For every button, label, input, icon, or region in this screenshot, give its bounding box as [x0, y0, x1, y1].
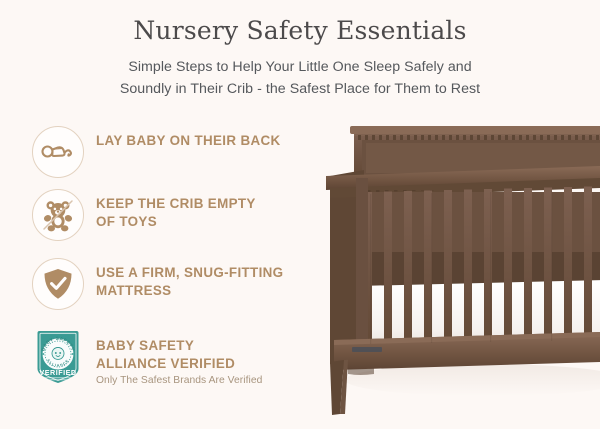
page-subtitle-line-2: Soundly in Their Crib - the Safest Place… — [0, 78, 600, 100]
baby-on-back-icon — [32, 126, 84, 178]
no-teddy-bear-icon — [32, 189, 84, 241]
crib-photo — [300, 118, 600, 429]
tip-sublabel: Only The Safest Brands Are Verified — [96, 372, 262, 388]
tip-row: BABY SAFETY ALLIANCE VERIFIED — [32, 331, 262, 389]
nursery-safety-infographic: Nursery Safety Essentials Simple Steps t… — [0, 0, 600, 429]
header: Nursery Safety Essentials Simple Steps t… — [0, 0, 600, 100]
tip-row: LAY BABY ON THEIR BACK — [32, 126, 281, 178]
tip-row: KEEP THE CRIB EMPTY OF TOYS — [32, 189, 256, 241]
tip-row: USE A FIRM, SNUG-FITTING MATTRESS — [32, 258, 283, 310]
tip-label: USE A FIRM, SNUG-FITTING MATTRESS — [96, 264, 283, 299]
tip-text: KEEP THE CRIB EMPTY OF TOYS — [84, 189, 256, 230]
page-subtitle-line-1: Simple Steps to Help Your Little One Sle… — [0, 56, 600, 78]
shield-check-icon — [32, 258, 84, 310]
badge-ribbon-text: VERIFIED — [39, 368, 76, 377]
page-title: Nursery Safety Essentials — [0, 0, 600, 46]
page-subtitle: Simple Steps to Help Your Little One Sle… — [0, 46, 600, 100]
tip-text: USE A FIRM, SNUG-FITTING MATTRESS — [84, 258, 283, 299]
tip-text: LAY BABY ON THEIR BACK — [84, 126, 281, 150]
baby-safety-alliance-verified-badge-icon: BABY SAFETY ALLIANCE VERIFIED — [32, 331, 84, 383]
tip-label: LAY BABY ON THEIR BACK — [96, 132, 281, 150]
tip-text: BABY SAFETY ALLIANCE VERIFIED Only The S… — [84, 331, 262, 389]
tip-label: BABY SAFETY ALLIANCE VERIFIED — [96, 337, 262, 372]
tip-label: KEEP THE CRIB EMPTY OF TOYS — [96, 195, 256, 230]
crib-brand-plate — [352, 347, 382, 352]
